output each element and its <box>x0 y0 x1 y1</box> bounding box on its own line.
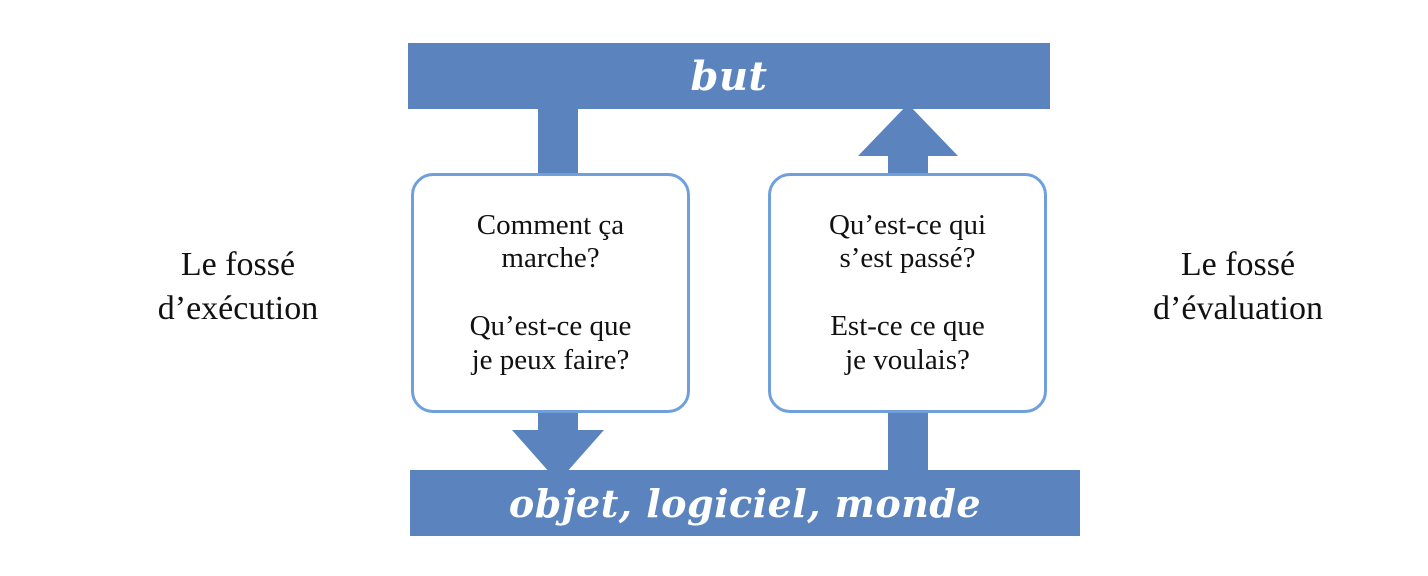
execution-gulf-line-1: Le fossé <box>88 243 388 287</box>
execution-question-box[interactable]: Comment ça marche? Qu’est-ce que je peux… <box>411 173 690 413</box>
execution-to-world-arrow-down-icon <box>512 404 604 482</box>
execution-gulf-line-2: d’exécution <box>88 287 388 331</box>
execution-box-line-3: Qu’est-ce que <box>470 310 632 344</box>
evaluation-gulf-line-1: Le fossé <box>1078 243 1398 287</box>
evaluation-gulf-label: Le fossé d’évaluation <box>1078 243 1398 330</box>
evaluation-box-line-3: Est-ce ce que <box>830 310 985 344</box>
execution-box-line-2: marche? <box>501 242 599 276</box>
execution-box-line-4: je peux faire? <box>472 344 630 378</box>
evaluation-question-box[interactable]: Qu’est-ce qui s’est passé? Est-ce ce que… <box>768 173 1047 413</box>
evaluation-box-line-1: Qu’est-ce qui <box>829 209 986 243</box>
world-to-evaluation-connector <box>888 404 928 482</box>
arrow-down-shape <box>512 404 604 482</box>
arrow-up-shape <box>858 104 958 182</box>
goal-to-execution-connector <box>538 104 578 182</box>
diagram-canvas: but Comment ça marche? Qu’est-ce que je … <box>0 0 1428 576</box>
world-bar-label: objet, logiciel, monde <box>509 481 981 526</box>
goal-bar: but <box>408 43 1050 109</box>
evaluation-to-goal-arrow-up-icon <box>858 104 958 182</box>
evaluation-gulf-line-2: d’évaluation <box>1078 287 1398 331</box>
execution-gulf-label: Le fossé d’exécution <box>88 243 388 330</box>
evaluation-box-line-2: s’est passé? <box>839 242 975 276</box>
world-bar: objet, logiciel, monde <box>410 470 1080 536</box>
evaluation-box-line-4: je voulais? <box>845 344 970 378</box>
execution-box-line-1: Comment ça <box>477 209 624 243</box>
goal-bar-label: but <box>690 53 767 100</box>
